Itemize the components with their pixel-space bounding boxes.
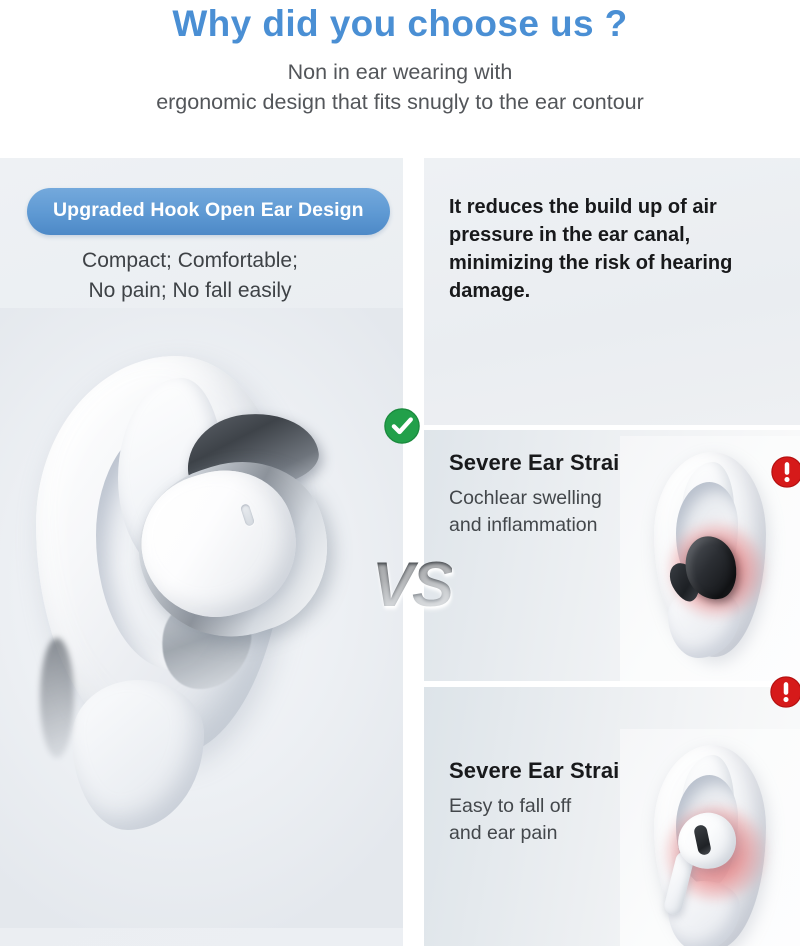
strain-inflammation-heading: Severe Ear Strain: [449, 450, 633, 476]
feature-line-2: No pain; No fall easily: [0, 276, 380, 306]
upgraded-design-badge: Upgraded Hook Open Ear Design: [27, 188, 390, 235]
page-subtitle: Non in ear wearing with ergonomic design…: [0, 46, 800, 118]
subtitle-line-2: ergonomic design that fits snugly to the…: [0, 87, 800, 118]
vs-separator-label: VS: [372, 554, 452, 617]
product-panel: Upgraded Hook Open Ear Design Compact; C…: [0, 158, 403, 946]
benefit-line-4: damage.: [449, 280, 530, 302]
benefit-line-2: pressure in the ear canal,: [449, 224, 690, 246]
benefit-panel: It reduces the build up of air pressure …: [424, 158, 800, 425]
falling-earbud-ear-photo: [620, 729, 800, 946]
product-photo: [0, 308, 403, 928]
subtitle-line-1: Non in ear wearing with: [0, 57, 800, 88]
drawback-column: It reduces the build up of air pressure …: [424, 158, 800, 946]
red-exclamation-circle-icon: [770, 455, 800, 489]
green-check-circle-icon: [383, 407, 421, 445]
ear-edge-shadow: [40, 638, 74, 758]
page-title: Why did you choose us ?: [0, 0, 800, 46]
ear-strain-inflammation-panel: Severe Ear Strain Cochlear swelling and …: [424, 430, 800, 681]
red-exclamation-circle-icon: [769, 675, 800, 709]
ear-strain-falloff-panel: Severe Ear Strain Easy to fall off and e…: [424, 687, 800, 946]
product-feature-list: Compact; Comfortable; No pain; No fall e…: [0, 246, 380, 306]
benefit-body-text: It reduces the build up of air pressure …: [449, 193, 749, 305]
benefit-line-3: minimizing the risk of hearing: [449, 252, 732, 274]
benefit-line-1: It reduces the build up of air: [449, 196, 717, 218]
page-header: Why did you choose us ? Non in ear weari…: [0, 0, 800, 152]
comparison-section: Upgraded Hook Open Ear Design Compact; C…: [0, 158, 800, 946]
strain-falloff-heading: Severe Ear Strain: [449, 758, 633, 784]
feature-line-1: Compact; Comfortable;: [0, 246, 380, 276]
